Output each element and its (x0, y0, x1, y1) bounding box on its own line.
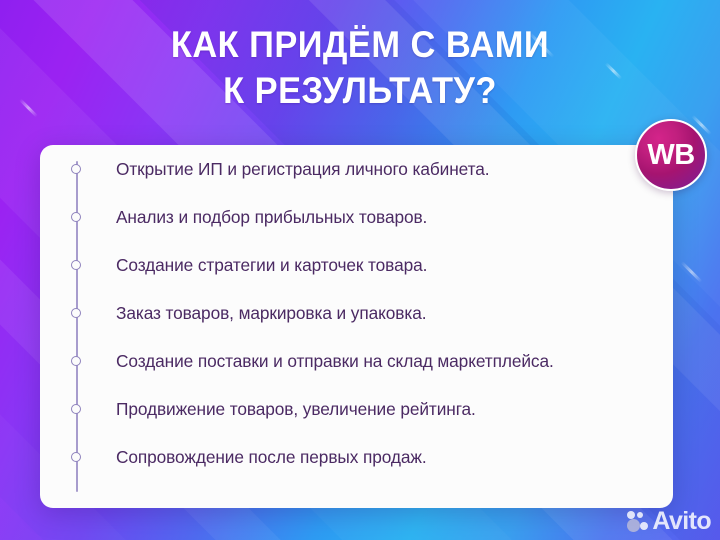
step-label: Анализ и подбор прибыльных товаров. (76, 206, 427, 228)
list-item: Продвижение товаров, увеличение рейтинга… (40, 385, 673, 433)
timeline-dot-icon (71, 404, 81, 414)
step-label: Создание стратегии и карточек товара. (76, 254, 427, 276)
step-label: Продвижение товаров, увеличение рейтинга… (76, 398, 476, 420)
title-line-1: КАК ПРИДЁМ С ВАМИ (25, 22, 695, 68)
list-item: Открытие ИП и регистрация личного кабине… (40, 145, 673, 193)
step-label: Создание поставки и отправки на склад ма… (76, 350, 554, 372)
timeline-dot-icon (71, 452, 81, 462)
timeline-dot-icon (71, 260, 81, 270)
list-item: Заказ товаров, маркировка и упаковка. (40, 289, 673, 337)
poster-canvas: КАК ПРИДЁМ С ВАМИ К РЕЗУЛЬТАТУ? Открытие… (0, 0, 720, 540)
wb-badge: WB (635, 119, 707, 191)
steps-list: Открытие ИП и регистрация личного кабине… (40, 145, 673, 508)
avito-watermark-label: Avito (652, 509, 711, 534)
list-item: Анализ и подбор прибыльных товаров. (40, 193, 673, 241)
step-label: Открытие ИП и регистрация личного кабине… (76, 158, 489, 180)
timeline-dot-icon (71, 356, 81, 366)
list-item: Сопровождение после первых продаж. (40, 433, 673, 481)
timeline-dot-icon (71, 212, 81, 222)
poster-title: КАК ПРИДЁМ С ВАМИ К РЕЗУЛЬТАТУ? (0, 22, 720, 114)
sparkle-decoration (681, 261, 703, 283)
title-line-2: К РЕЗУЛЬТАТУ? (25, 68, 695, 114)
list-item: Создание поставки и отправки на склад ма… (40, 337, 673, 385)
timeline-dot-icon (71, 164, 81, 174)
list-item: Создание стратегии и карточек товара. (40, 241, 673, 289)
avito-dots-icon (627, 511, 649, 533)
step-label: Заказ товаров, маркировка и упаковка. (76, 302, 426, 324)
wb-badge-label: WB (647, 141, 694, 170)
avito-watermark: Avito (627, 509, 711, 534)
steps-card: Открытие ИП и регистрация личного кабине… (40, 145, 673, 508)
step-label: Сопровождение после первых продаж. (76, 446, 427, 468)
timeline-dot-icon (71, 308, 81, 318)
